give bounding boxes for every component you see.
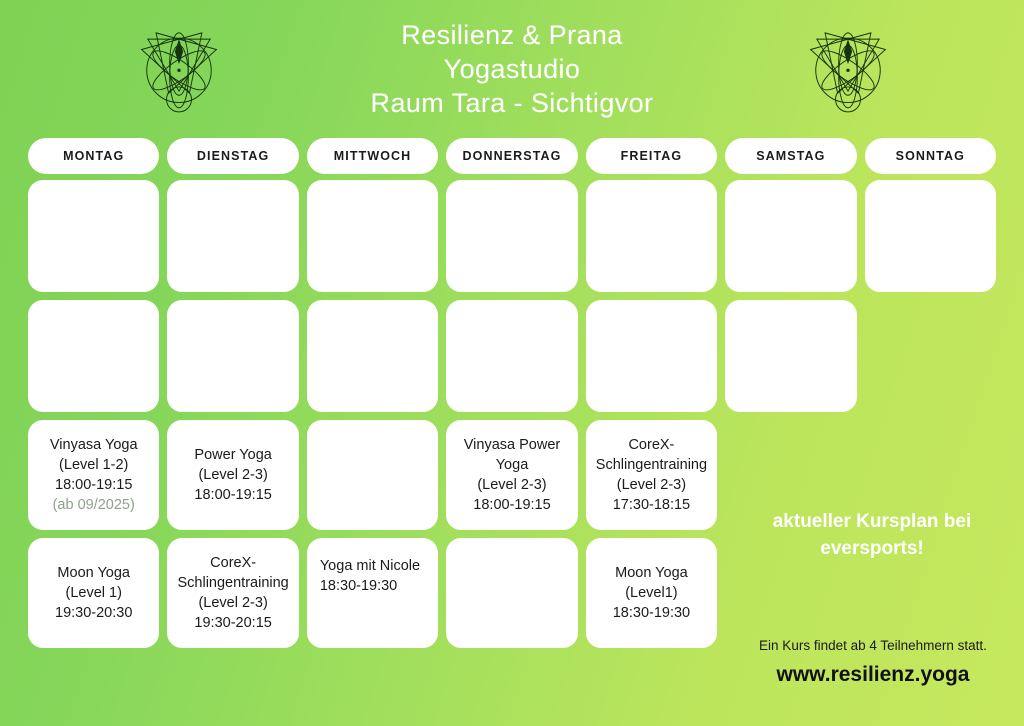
empty-cell[interactable] bbox=[307, 300, 438, 412]
title-line-2: Yogastudio bbox=[262, 52, 762, 86]
class-line: Yoga mit Nicole bbox=[320, 556, 420, 576]
empty-cell[interactable] bbox=[167, 300, 298, 412]
empty-cell[interactable] bbox=[446, 538, 577, 648]
class-cell[interactable]: Yoga mit Nicole18:30-19:30 bbox=[307, 538, 438, 648]
day-header-samstag[interactable]: SAMSTAG bbox=[725, 138, 856, 174]
class-line: CoreX- bbox=[628, 435, 674, 455]
day-header-label: FREITAG bbox=[621, 149, 683, 163]
class-line: 19:30-20:30 bbox=[55, 603, 132, 623]
empty-cell[interactable] bbox=[28, 300, 159, 412]
class-line: (Level 2-3) bbox=[617, 475, 686, 495]
day-header-label: MITTWOCH bbox=[334, 149, 412, 163]
class-line: Moon Yoga bbox=[57, 563, 130, 583]
class-line: 17:30-18:15 bbox=[613, 495, 690, 515]
schedule-row-1 bbox=[28, 180, 996, 292]
day-header-row: MONTAGDIENSTAGMITTWOCHDONNERSTAGFREITAGS… bbox=[28, 138, 996, 174]
empty-cell[interactable] bbox=[586, 180, 717, 292]
class-line: (Level 1) bbox=[66, 583, 122, 603]
empty-cell[interactable] bbox=[446, 180, 577, 292]
schedule-grid: MONTAGDIENSTAGMITTWOCHDONNERSTAGFREITAGS… bbox=[28, 138, 996, 656]
day-header-mittwoch[interactable]: MITTWOCH bbox=[307, 138, 438, 174]
day-header-donnerstag[interactable]: DONNERSTAG bbox=[446, 138, 577, 174]
studio-title: Resilienz & Prana Yogastudio Raum Tara -… bbox=[262, 18, 762, 120]
empty-cell[interactable] bbox=[446, 300, 577, 412]
class-line: Power Yoga bbox=[194, 445, 271, 465]
class-cell[interactable]: CoreX-Schlingentraining(Level 2-3)17:30-… bbox=[586, 420, 717, 530]
class-line: (Level 2-3) bbox=[477, 475, 546, 495]
day-header-label: MONTAG bbox=[63, 149, 124, 163]
promo-line-2: eversports! bbox=[728, 535, 1016, 562]
class-line: 18:00-19:15 bbox=[194, 485, 271, 505]
schedule-row-2 bbox=[28, 300, 996, 412]
day-header-montag[interactable]: MONTAG bbox=[28, 138, 159, 174]
sacred-geometry-mandala-logo bbox=[127, 10, 231, 114]
day-header-dienstag[interactable]: DIENSTAG bbox=[167, 138, 298, 174]
class-cell[interactable]: Vinyasa PowerYoga(Level 2-3)18:00-19:15 bbox=[446, 420, 577, 530]
day-header-label: DIENSTAG bbox=[197, 149, 269, 163]
class-line: Moon Yoga bbox=[615, 563, 688, 583]
class-line: (Level1) bbox=[625, 583, 677, 603]
class-line: 19:30-20:15 bbox=[194, 613, 271, 633]
empty-cell[interactable] bbox=[725, 180, 856, 292]
eversports-promo: aktueller Kursplan bei eversports! bbox=[728, 508, 1016, 562]
class-line: Yoga bbox=[496, 455, 529, 475]
class-line: Vinyasa Power bbox=[464, 435, 560, 455]
class-line: CoreX- bbox=[210, 553, 256, 573]
day-header-freitag[interactable]: FREITAG bbox=[586, 138, 717, 174]
class-line: (ab 09/2025) bbox=[53, 495, 135, 515]
class-line: 18:00-19:15 bbox=[55, 475, 132, 495]
empty-cell[interactable] bbox=[586, 300, 717, 412]
class-line: 18:30-19:30 bbox=[613, 603, 690, 623]
minimum-participants-note: Ein Kurs findet ab 4 Teilnehmern statt. bbox=[728, 638, 1018, 653]
class-cell[interactable]: Moon Yoga(Level 1)19:30-20:30 bbox=[28, 538, 159, 648]
empty-cell[interactable] bbox=[725, 300, 856, 412]
empty-cell[interactable] bbox=[28, 180, 159, 292]
class-line: (Level 1-2) bbox=[59, 455, 128, 475]
empty-cell[interactable] bbox=[307, 420, 438, 530]
class-line: (Level 2-3) bbox=[198, 465, 267, 485]
class-line: Schlingentraining bbox=[596, 455, 707, 475]
class-line: Schlingentraining bbox=[178, 573, 289, 593]
class-cell[interactable]: Moon Yoga(Level1)18:30-19:30 bbox=[586, 538, 717, 648]
class-line: (Level 2-3) bbox=[198, 593, 267, 613]
empty-cell[interactable] bbox=[307, 180, 438, 292]
empty-cell[interactable] bbox=[865, 180, 996, 292]
day-header-label: SONNTAG bbox=[896, 149, 965, 163]
class-line: Vinyasa Yoga bbox=[50, 435, 138, 455]
class-cell[interactable]: Vinyasa Yoga(Level 1-2)18:00-19:15(ab 09… bbox=[28, 420, 159, 530]
sacred-geometry-mandala-logo bbox=[796, 10, 900, 114]
page-header: Resilienz & Prana Yogastudio Raum Tara -… bbox=[0, 0, 1024, 134]
title-line-3: Raum Tara - Sichtigvor bbox=[262, 86, 762, 120]
day-header-label: DONNERSTAG bbox=[463, 149, 562, 163]
promo-line-1: aktueller Kursplan bei bbox=[728, 508, 1016, 535]
empty-cell[interactable] bbox=[167, 180, 298, 292]
day-header-label: SAMSTAG bbox=[756, 149, 825, 163]
day-header-sonntag[interactable]: SONNTAG bbox=[865, 138, 996, 174]
website-url[interactable]: www.resilienz.yoga bbox=[728, 663, 1018, 687]
class-line: 18:00-19:15 bbox=[473, 495, 550, 515]
class-cell[interactable]: Power Yoga(Level 2-3)18:00-19:15 bbox=[167, 420, 298, 530]
class-line: 18:30-19:30 bbox=[320, 576, 397, 596]
class-cell[interactable]: CoreX-Schlingentraining(Level 2-3)19:30-… bbox=[167, 538, 298, 648]
title-line-1: Resilienz & Prana bbox=[262, 18, 762, 52]
